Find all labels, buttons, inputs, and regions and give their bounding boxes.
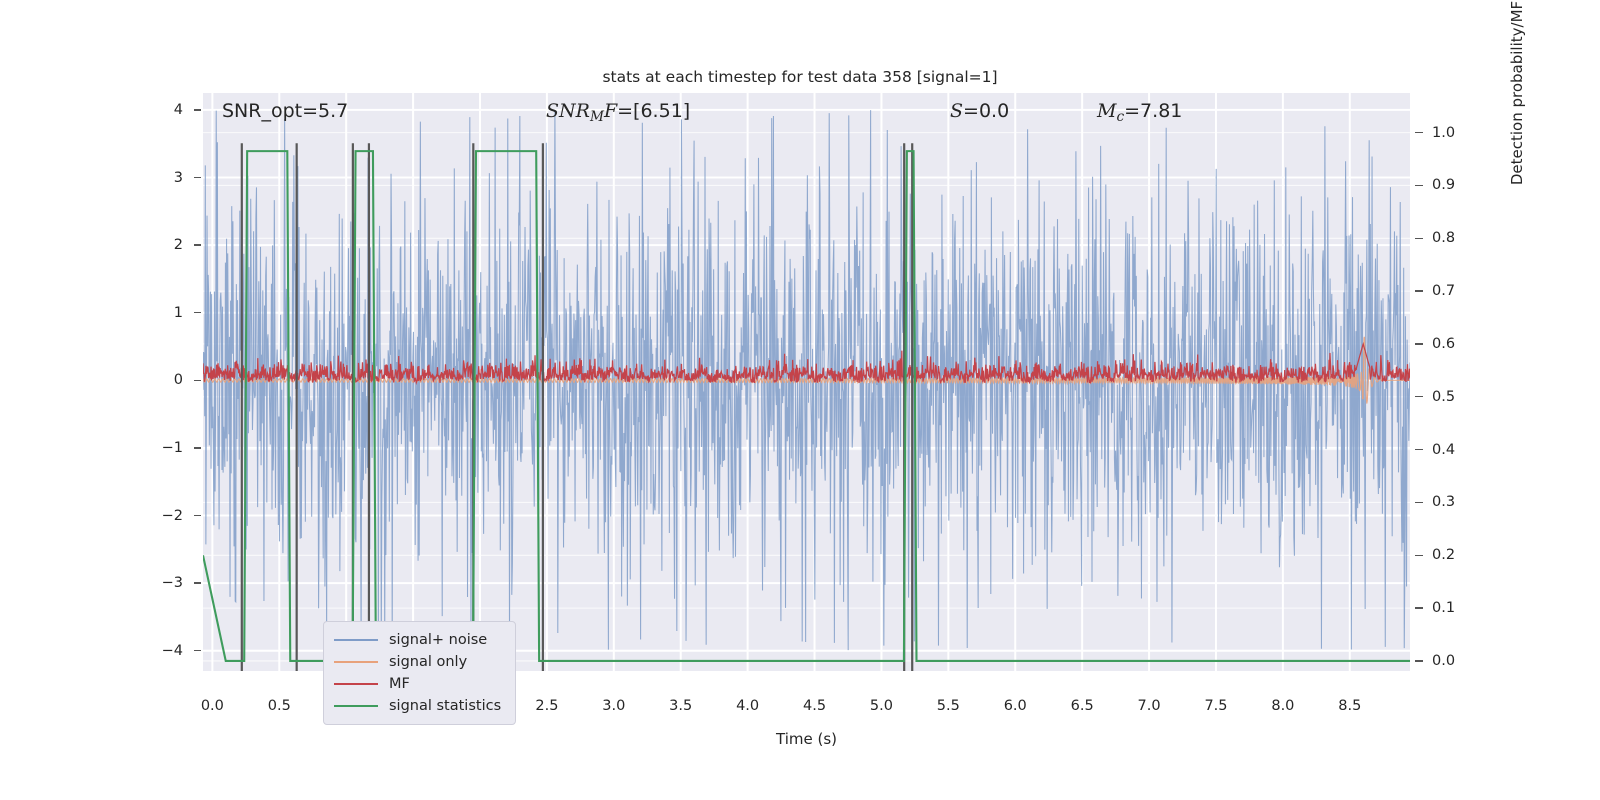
y-tick-left-1: 3 bbox=[174, 170, 183, 186]
y-tickmark-left-4 bbox=[194, 380, 201, 381]
y-tickmark-left-3 bbox=[194, 312, 201, 313]
x-tick-11: 5.5 bbox=[937, 698, 960, 714]
y-tickmark-left-2 bbox=[194, 244, 201, 245]
y-tickmark-right-4 bbox=[1415, 343, 1423, 344]
y-tick-left-8: −4 bbox=[162, 643, 183, 659]
figure: stats at each timestep for test data 358… bbox=[0, 0, 1600, 800]
x-tick-5: 2.5 bbox=[535, 698, 558, 714]
legend-label-2: MF bbox=[389, 676, 410, 692]
y-tick-left-2: 2 bbox=[174, 237, 183, 253]
y-tick-right-7: 0.3 bbox=[1432, 494, 1455, 510]
y-tick-left-5: −1 bbox=[162, 440, 183, 456]
legend-swatch-3 bbox=[334, 705, 378, 707]
x-tick-10: 5.0 bbox=[870, 698, 893, 714]
legend: signal+ noisesignal onlyMFsignal statist… bbox=[323, 621, 516, 725]
y-tickmark-right-7 bbox=[1415, 502, 1423, 503]
y-tick-right-5: 0.5 bbox=[1432, 389, 1455, 405]
y-tickmark-right-9 bbox=[1415, 607, 1423, 608]
x-tick-1: 0.5 bbox=[268, 698, 291, 714]
y-tickmark-right-5 bbox=[1415, 396, 1423, 397]
legend-label-0: signal+ noise bbox=[389, 632, 487, 648]
x-tick-6: 3.0 bbox=[602, 698, 625, 714]
y-axis-label-right: Detection probability/MF bbox=[1508, 0, 1526, 382]
y-tickmark-right-2 bbox=[1415, 238, 1423, 239]
y-tickmark-left-6 bbox=[194, 515, 201, 516]
y-tick-right-8: 0.2 bbox=[1432, 547, 1455, 563]
legend-swatch-2 bbox=[334, 683, 378, 685]
x-tick-16: 8.0 bbox=[1271, 698, 1294, 714]
x-tick-13: 6.5 bbox=[1071, 698, 1094, 714]
legend-item-3[interactable]: signal statistics bbox=[334, 695, 501, 717]
annotation-snr-mf: SNRMF=[6.51] bbox=[546, 100, 690, 125]
y-tickmark-left-1 bbox=[194, 177, 201, 178]
annotation-snr-opt: SNR_opt=5.7 bbox=[222, 100, 348, 122]
x-tick-7: 3.5 bbox=[669, 698, 692, 714]
annotation-s-value: S=0.0 bbox=[950, 100, 1009, 122]
x-tick-15: 7.5 bbox=[1204, 698, 1227, 714]
y-tick-left-4: 0 bbox=[174, 372, 183, 388]
y-tick-right-2: 0.8 bbox=[1432, 230, 1455, 246]
legend-label-3: signal statistics bbox=[389, 698, 501, 714]
y-tickmark-left-7 bbox=[194, 582, 201, 583]
x-tick-9: 4.5 bbox=[803, 698, 826, 714]
y-tickmark-left-0 bbox=[194, 109, 201, 110]
y-tickmark-right-6 bbox=[1415, 449, 1423, 450]
y-tickmark-right-1 bbox=[1415, 185, 1423, 186]
y-tick-right-9: 0.1 bbox=[1432, 600, 1455, 616]
legend-item-2[interactable]: MF bbox=[334, 673, 501, 695]
x-axis-label: Time (s) bbox=[203, 730, 1410, 748]
x-tick-17: 8.5 bbox=[1338, 698, 1361, 714]
legend-swatch-1 bbox=[334, 661, 378, 663]
y-tickmark-right-3 bbox=[1415, 290, 1423, 291]
y-tick-left-3: 1 bbox=[174, 305, 183, 321]
y-tick-right-1: 0.9 bbox=[1432, 177, 1455, 193]
annotation-mc-value: Mc=7.81 bbox=[1097, 100, 1182, 125]
y-tick-left-0: 4 bbox=[174, 102, 183, 118]
plot-area bbox=[203, 93, 1410, 671]
y-tick-right-4: 0.6 bbox=[1432, 336, 1455, 352]
legend-item-1[interactable]: signal only bbox=[334, 651, 501, 673]
legend-label-1: signal only bbox=[389, 654, 467, 670]
y-tickmark-right-8 bbox=[1415, 555, 1423, 556]
y-tick-right-0: 1.0 bbox=[1432, 125, 1455, 141]
y-tick-right-10: 0.0 bbox=[1432, 653, 1455, 669]
y-tick-right-3: 0.7 bbox=[1432, 283, 1455, 299]
y-tick-right-6: 0.4 bbox=[1432, 442, 1455, 458]
x-tick-0: 0.0 bbox=[201, 698, 224, 714]
legend-swatch-0 bbox=[334, 639, 378, 641]
y-tickmark-left-8 bbox=[194, 650, 201, 651]
y-tickmark-left-5 bbox=[194, 447, 201, 448]
y-tick-left-7: −3 bbox=[162, 575, 183, 591]
x-tick-12: 6.0 bbox=[1004, 698, 1027, 714]
chart-title: stats at each timestep for test data 358… bbox=[0, 68, 1600, 86]
x-tick-14: 7.0 bbox=[1138, 698, 1161, 714]
legend-item-0[interactable]: signal+ noise bbox=[334, 629, 501, 651]
y-tickmark-right-10 bbox=[1415, 660, 1423, 661]
plot-canvas bbox=[203, 93, 1410, 671]
x-tick-8: 4.0 bbox=[736, 698, 759, 714]
y-tick-left-6: −2 bbox=[162, 508, 183, 524]
y-tickmark-right-0 bbox=[1415, 132, 1423, 133]
